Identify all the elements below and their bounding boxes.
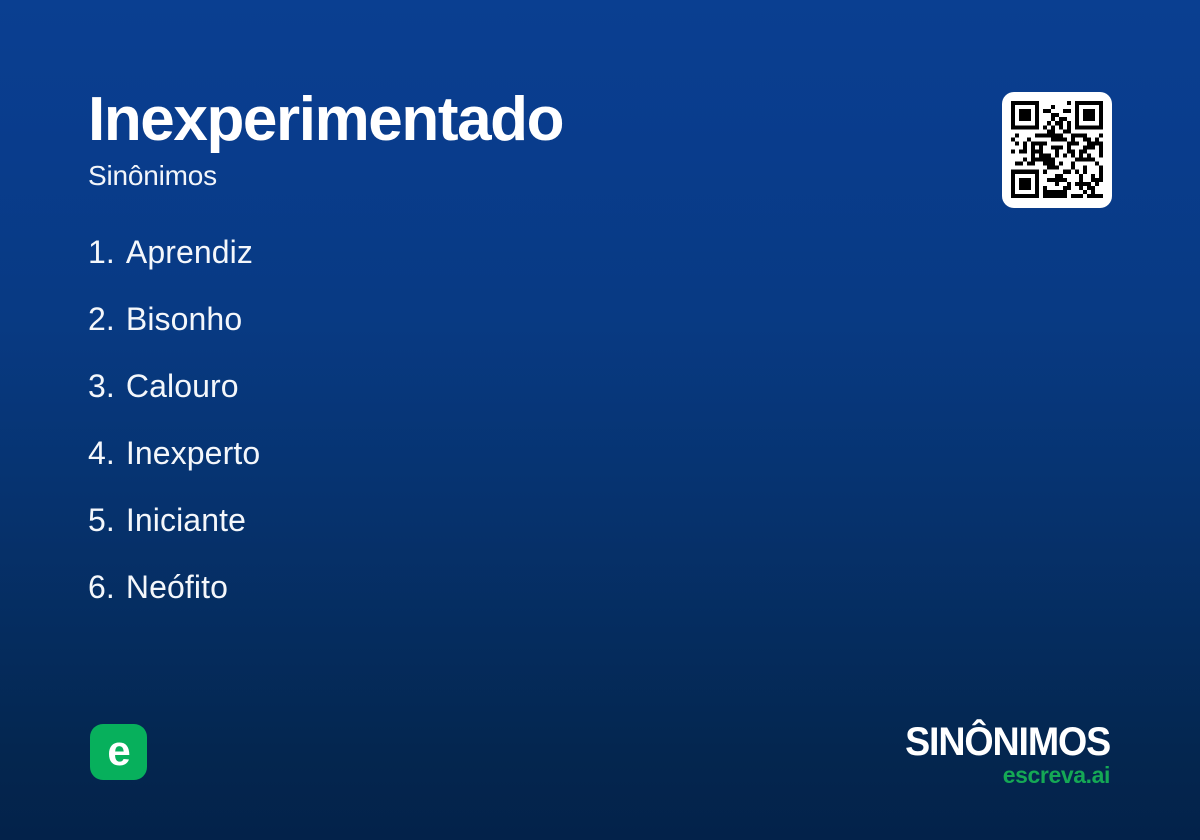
synonym-label: Iniciante [126,504,246,536]
qr-code[interactable] [1002,92,1112,208]
synonym-label: Aprendiz [126,236,253,268]
synonym-label: Bisonho [126,303,242,335]
logo-wordmark: SINÔNIMOS [905,722,1110,762]
sinonimos-logo[interactable]: SINÔNIMOS escreva.ai [892,722,1110,787]
brand-badge-letter: e [107,730,129,772]
synonym-index: 2. [88,303,115,335]
page-title: Inexperimentado [88,88,908,151]
synonym-index: 6. [88,571,115,603]
synonym-label: Calouro [126,370,239,402]
synonym-item: 1.Aprendiz [88,236,260,303]
headline-block: Inexperimentado Sinônimos [88,88,908,192]
synonym-index: 1. [88,236,115,268]
qr-code-icon [1011,101,1103,198]
synonym-index: 4. [88,437,115,469]
synonym-item: 3.Calouro [88,370,260,437]
synonym-card: Inexperimentado Sinônimos 1.Aprendiz2.Bi… [0,0,1200,840]
synonym-label: Neófito [126,571,228,603]
synonym-list: 1.Aprendiz2.Bisonho3.Calouro4.Inexperto5… [88,236,260,638]
page-subtitle: Sinônimos [88,161,908,192]
synonym-item: 2.Bisonho [88,303,260,370]
logo-tagline: escreva.ai [892,764,1110,787]
synonym-index: 3. [88,370,115,402]
synonym-item: 4.Inexperto [88,437,260,504]
synonym-item: 5.Iniciante [88,504,260,571]
synonym-index: 5. [88,504,115,536]
synonym-label: Inexperto [126,437,260,469]
synonym-item: 6.Neófito [88,571,260,638]
escreva-e-badge-icon[interactable]: e [90,724,147,780]
